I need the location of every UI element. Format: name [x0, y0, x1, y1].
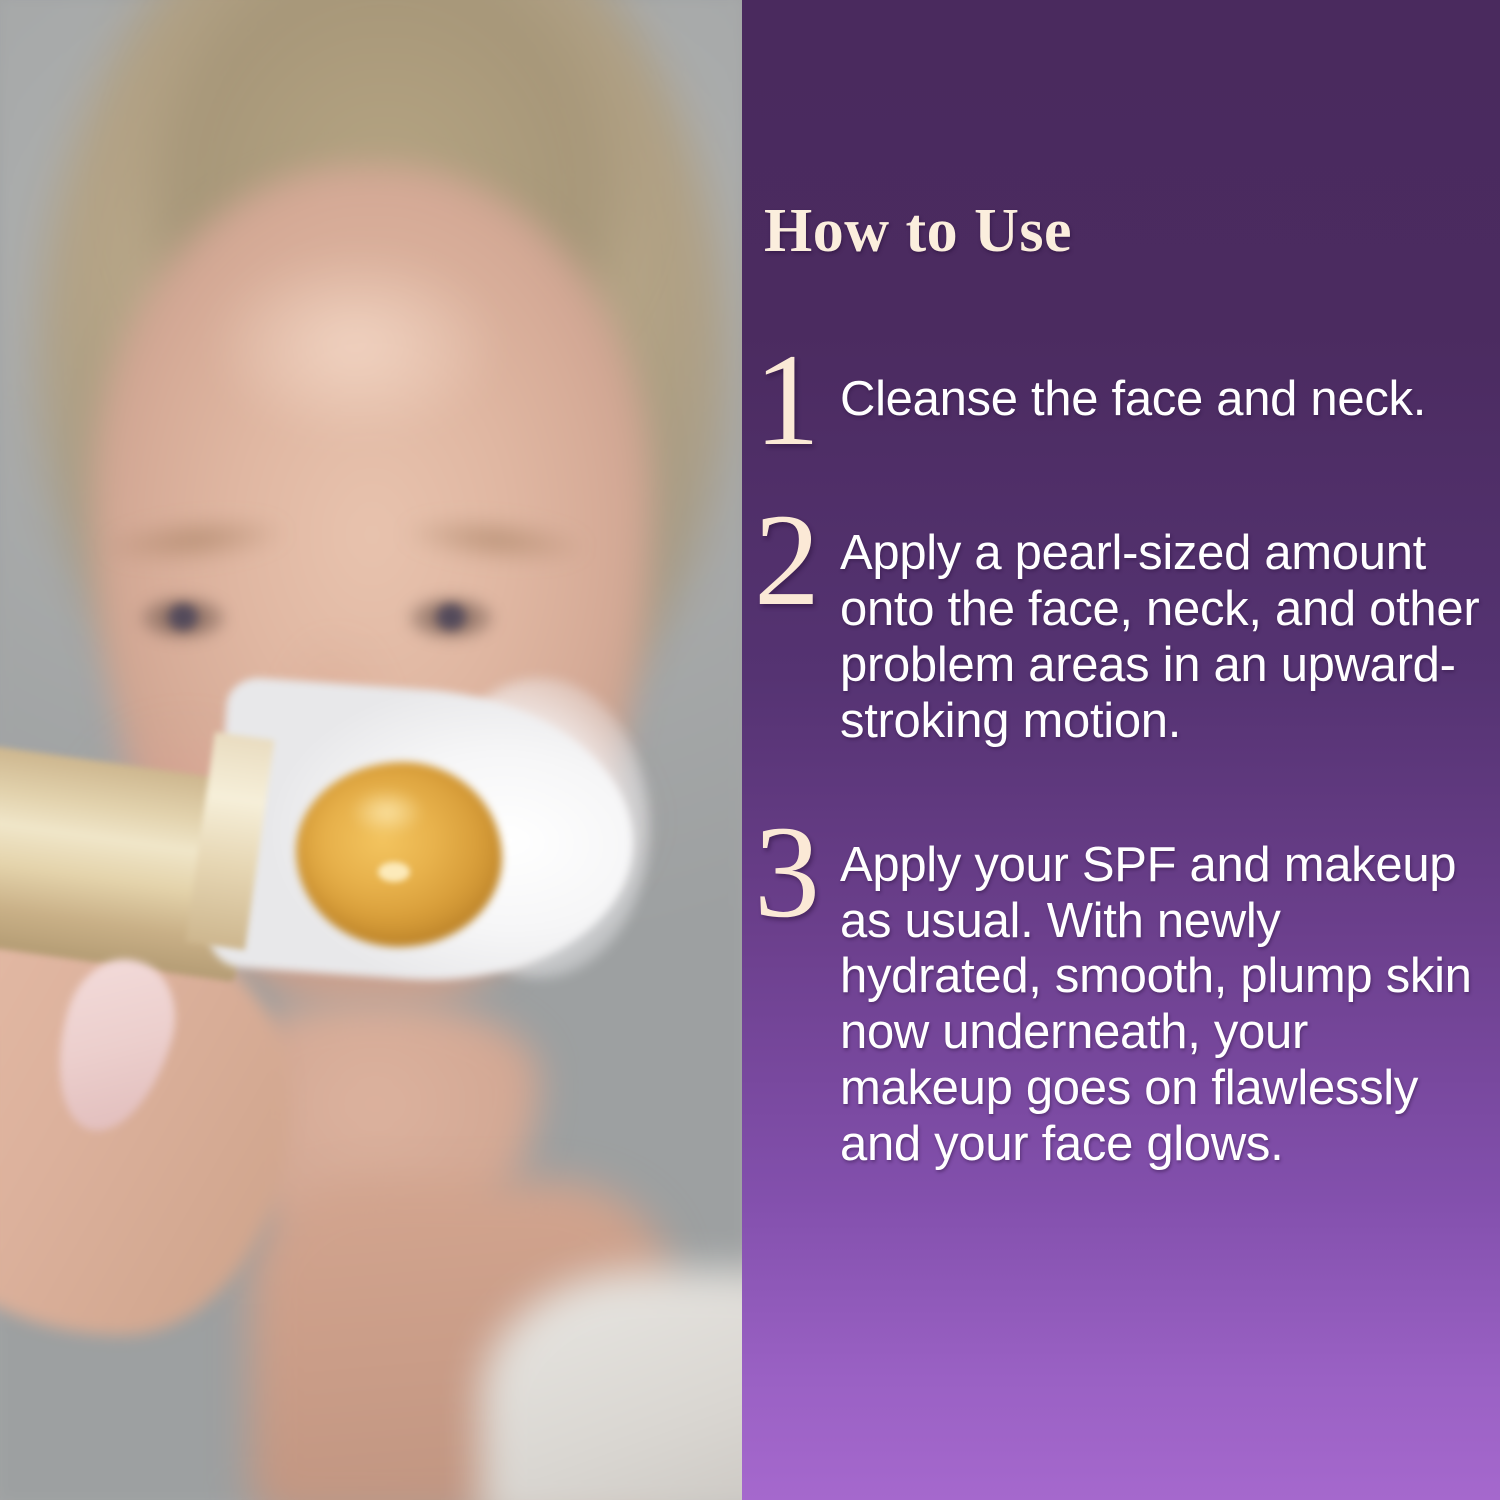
- list-item: 3 Apply your SPF and makeup as usual. Wi…: [754, 832, 1488, 1173]
- list-item: 2 Apply a pearl-sized amount onto the fa…: [754, 520, 1488, 749]
- instructions-panel: How to Use 1 Cleanse the face and neck. …: [742, 0, 1500, 1500]
- list-item: 1 Cleanse the face and neck.: [754, 360, 1488, 454]
- product-photo: [0, 0, 742, 1500]
- step-text: Apply a pearl-sized amount onto the face…: [840, 520, 1488, 749]
- step-number: 2: [754, 506, 840, 614]
- step-text: Apply your SPF and makeup as usual. With…: [840, 832, 1488, 1173]
- step-number: 3: [754, 818, 840, 926]
- forehead-highlight: [210, 250, 500, 440]
- promo-graphic: How to Use 1 Cleanse the face and neck. …: [0, 0, 1500, 1500]
- step-text: Cleanse the face and neck.: [840, 360, 1488, 428]
- pupil-right: [436, 604, 466, 630]
- serum-drop: [296, 762, 502, 947]
- page-title: How to Use: [764, 196, 1072, 267]
- step-number: 1: [754, 346, 840, 454]
- steps-list: 1 Cleanse the face and neck. 2 Apply a p…: [754, 360, 1488, 1173]
- pupil-left: [168, 604, 198, 630]
- serum-drip: [378, 862, 410, 882]
- serum-highlight: [352, 790, 422, 834]
